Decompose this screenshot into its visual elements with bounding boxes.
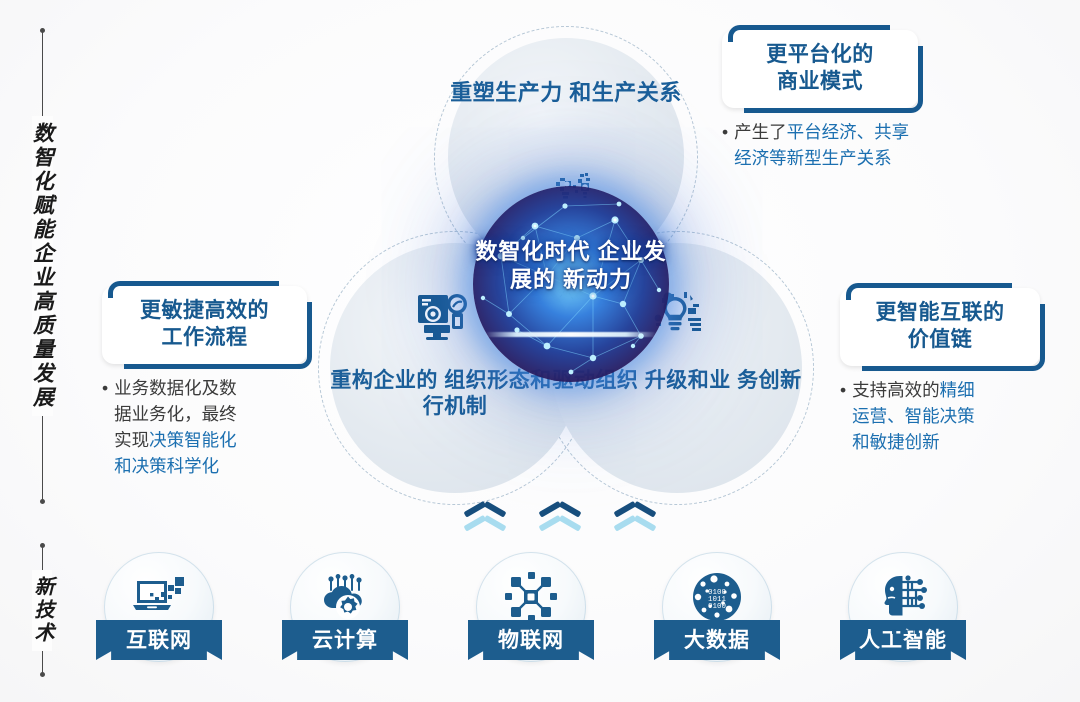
chevron-up-icon xyxy=(540,512,580,546)
callout-platform-box: 更平台化的 商业模式 xyxy=(722,30,918,108)
svg-text:0100: 0100 xyxy=(708,603,727,611)
tech-label: 物联网 xyxy=(498,624,564,654)
tech-ribbon: 云计算 xyxy=(282,620,408,660)
callout-platform-text: 产生了平台经济、共享 经济等新型生产关系 xyxy=(734,119,909,172)
callout-platform-body: • 产生了平台经济、共享 经济等新型生产关系 xyxy=(722,119,982,172)
cloud-gear-icon xyxy=(290,566,400,628)
tech-ribbon: 互联网 xyxy=(96,620,222,660)
monitor-analytics-icon xyxy=(416,293,474,345)
lobe-top-label: 重塑生产力 和生产关系 xyxy=(448,80,684,107)
chevron-up-icon xyxy=(465,512,505,546)
callout-value-chain-body: • 支持高效的精细 运营、智能决策 和敏捷创新 xyxy=(840,377,1040,456)
iot-nodes-icon xyxy=(476,566,586,628)
infographic-canvas: 数智化赋能企业高质量发展 新技术 重塑生产力 和生产关系 重构企业的 组织形态和… xyxy=(0,0,1080,702)
tech-label: 互联网 xyxy=(126,624,192,654)
chevron-up-icon xyxy=(615,512,655,546)
callout-value-chain[interactable]: 更智能互联的 价值链 • 支持高效的精细 运营、智能决策 和敏捷创新 xyxy=(840,288,1040,455)
callout-workflow[interactable]: 更敏捷高效的 工作流程 • 业务数据化及数 据业务化，最终 实现决策智能化 和决… xyxy=(102,286,307,480)
callout-platform-text-plain: 产生了 xyxy=(734,122,787,142)
tech-ribbon: 大数据 xyxy=(654,620,780,660)
callout-value-chain-text: 支持高效的精细 运营、智能决策 和敏捷创新 xyxy=(852,377,975,456)
laptop-pixels-icon xyxy=(104,566,214,628)
tech-label: 大数据 xyxy=(684,624,750,654)
bullet-icon: • xyxy=(722,119,728,172)
bigdata-binary-icon: 0100 1011 0100 xyxy=(662,566,772,628)
tech-item-iot[interactable]: 物联网 xyxy=(468,552,594,678)
callout-value-chain-box: 更智能互联的 价值链 xyxy=(840,288,1040,366)
ellipsis-more: ... xyxy=(890,608,924,642)
callout-platform-title: 更平台化的 商业模式 xyxy=(736,41,904,96)
tech-item-internet[interactable]: 互联网 xyxy=(96,552,222,678)
axis-lower-label: 新技术 xyxy=(32,570,52,651)
callout-workflow-text: 业务数据化及数 据业务化，最终 实现决策智能化 和决策科学化 xyxy=(114,375,237,480)
callout-workflow-title: 更敏捷高效的 工作流程 xyxy=(116,297,293,352)
core-shelf-glow xyxy=(485,332,658,337)
callout-workflow-box: 更敏捷高效的 工作流程 xyxy=(102,286,307,364)
callout-value-chain-text-plain: 支持高效的 xyxy=(852,380,940,400)
tech-item-bigdata[interactable]: 0100 1011 0100 大数据 xyxy=(654,552,780,678)
upward-chevrons xyxy=(465,512,655,548)
axis-upper: 数智化赋能企业高质量发展 xyxy=(14,30,70,502)
bullet-icon: • xyxy=(102,375,108,480)
tech-label: 云计算 xyxy=(312,624,378,654)
callout-platform[interactable]: 更平台化的 商业模式 • 产生了平台经济、共享 经济等新型生产关系 xyxy=(722,30,918,171)
callout-workflow-body: • 业务数据化及数 据业务化，最终 实现决策智能化 和决策科学化 xyxy=(102,375,307,480)
tech-item-cloud[interactable]: 云计算 xyxy=(282,552,408,678)
core-label: 数智化时代 企业发展的 新动力 xyxy=(473,238,669,294)
core-sphere[interactable]: 数智化时代 企业发展的 新动力 xyxy=(473,186,669,382)
bullet-icon: • xyxy=(840,377,846,456)
callout-value-chain-title: 更智能互联的 价值链 xyxy=(854,299,1026,354)
axis-upper-label: 数智化赋能企业高质量发展 xyxy=(32,116,53,416)
tech-ribbon: 物联网 xyxy=(468,620,594,660)
axis-lower: 新技术 xyxy=(14,545,70,675)
